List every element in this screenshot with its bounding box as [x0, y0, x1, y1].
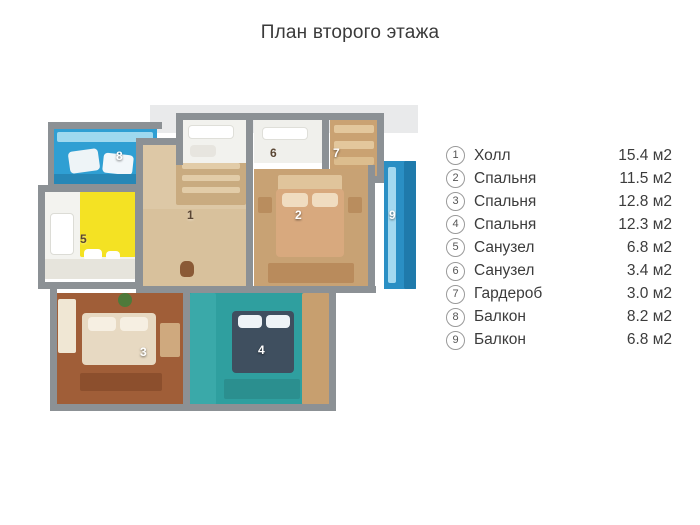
bath5-yellow-wall — [80, 191, 136, 257]
wall-between-6 — [246, 113, 253, 165]
bedroom3-desk — [160, 323, 180, 357]
legend-area-2: 11.5 м2 — [600, 170, 672, 188]
legend: 1 Холл 15.4 м2 2 Спальня 11.5 м2 3 Спаль… — [446, 144, 672, 352]
wall-bedroom3-right — [183, 287, 190, 411]
legend-number-5: 5 — [446, 238, 465, 257]
legend-number-6: 6 — [446, 262, 465, 281]
room-bedroom-2 — [254, 169, 370, 289]
wall-wardrobe-top — [322, 113, 384, 120]
wall-bedroom4-bottom — [190, 404, 336, 411]
legend-number-9: 9 — [446, 331, 465, 350]
wall-bath5-left — [38, 185, 45, 289]
hall-plant — [180, 261, 194, 277]
bath6-cabinet — [190, 145, 216, 157]
hall-stair-step-2 — [182, 163, 240, 169]
bath5-tub — [50, 213, 74, 255]
hall-stair-step-4 — [182, 187, 240, 193]
bedroom4-pillow-a — [238, 315, 262, 328]
legend-row-1: 1 Холл 15.4 м2 — [446, 144, 672, 167]
bedroom2-pillow-b — [312, 193, 338, 207]
balcony8-chair-a — [68, 148, 101, 174]
legend-row-2: 2 Спальня 11.5 м2 — [446, 167, 672, 190]
bedroom2-nightstand-r — [348, 197, 362, 213]
floor-plan: 8 5 1 6 7 — [30, 105, 420, 425]
legend-row-7: 7 Гардероб 3.0 м2 — [446, 283, 672, 306]
bedroom2-pillow-a — [282, 193, 308, 207]
legend-area-9: 6.8 м2 — [600, 331, 672, 349]
room-number-7: 7 — [333, 146, 340, 160]
wall-bedroom4-right — [329, 287, 336, 411]
bedroom2-rug — [268, 263, 354, 283]
legend-label-6: Санузел — [474, 262, 600, 280]
bedroom3-plant — [118, 293, 132, 307]
wall-bedroom3-bottom — [50, 404, 190, 411]
room-bedroom-3 — [56, 293, 184, 405]
legend-number-7: 7 — [446, 285, 465, 304]
balcony9-rail — [388, 167, 396, 283]
bedroom4-left-panel — [190, 293, 216, 405]
wardrobe-shelf-b — [334, 141, 374, 149]
legend-area-3: 12.8 м2 — [600, 193, 672, 211]
wall-bedroom3-left — [50, 287, 57, 411]
wall-wardrobe-right — [377, 113, 384, 183]
legend-label-2: Спальня — [474, 170, 600, 188]
bedroom4-pillow-b — [266, 315, 290, 328]
wall-hall-top — [136, 138, 182, 145]
room-number-4: 4 — [258, 343, 265, 357]
legend-row-3: 3 Спальня 12.8 м2 — [446, 190, 672, 213]
bedroom2-nightstand-l — [258, 197, 272, 213]
bedroom3-pillow-a — [88, 317, 116, 331]
wall-hall-left — [136, 138, 143, 293]
legend-area-4: 12.3 м2 — [600, 216, 672, 234]
legend-area-7: 3.0 м2 — [600, 285, 672, 303]
wall-bedroom2-right — [368, 165, 375, 293]
wall-balcony8-top — [48, 122, 162, 129]
legend-number-8: 8 — [446, 308, 465, 327]
legend-label-7: Гардероб — [474, 285, 600, 303]
wardrobe-shelf-a — [334, 125, 374, 133]
legend-row-4: 4 Спальня 12.3 м2 — [446, 213, 672, 236]
room-number-3: 3 — [140, 345, 147, 359]
legend-label-4: Спальня — [474, 216, 600, 234]
hall-floor-plank-a — [142, 209, 250, 289]
room-number-2: 2 — [295, 208, 302, 222]
room-bath-5 — [44, 191, 136, 279]
room-number-5: 5 — [80, 232, 87, 246]
legend-row-8: 8 Балкон 8.2 м2 — [446, 306, 672, 329]
wall-bath5-top — [38, 185, 138, 192]
legend-area-8: 8.2 м2 — [600, 308, 672, 326]
bedroom3-wardrobe — [58, 299, 76, 353]
room-number-8: 8 — [116, 149, 123, 163]
room-bath-6 — [182, 119, 250, 163]
legend-area-5: 6.8 м2 — [600, 239, 672, 257]
bath6-tub — [188, 125, 234, 139]
legend-number-3: 3 — [446, 192, 465, 211]
legend-area-6: 3.4 м2 — [600, 262, 672, 280]
legend-row-6: 6 Санузел 3.4 м2 — [446, 259, 672, 282]
room-number-6: 6 — [270, 146, 277, 160]
bedroom4-rug — [224, 379, 300, 399]
balcony9-shade — [404, 161, 416, 289]
wall-hall-right — [246, 165, 253, 293]
legend-label-3: Спальня — [474, 193, 600, 211]
legend-label-1: Холл — [474, 147, 600, 165]
room-hall-1 — [142, 143, 250, 289]
bath5-floor — [44, 259, 136, 279]
room-number-1: 1 — [187, 208, 194, 222]
wall-mid-horizontal — [136, 286, 376, 293]
wall-balcony8-left — [48, 122, 54, 190]
bath6b-tub — [262, 127, 308, 140]
legend-row-5: 5 Санузел 6.8 м2 — [446, 236, 672, 259]
legend-number-1: 1 — [446, 146, 465, 165]
bedroom4-right-wood — [302, 293, 330, 405]
bedroom3-rug — [80, 373, 162, 391]
legend-number-2: 2 — [446, 169, 465, 188]
legend-row-9: 9 Балкон 6.8 м2 — [446, 329, 672, 352]
legend-label-9: Балкон — [474, 331, 600, 349]
legend-area-1: 15.4 м2 — [600, 147, 672, 165]
room-bath-6-right — [254, 119, 322, 163]
hall-stair-step-3 — [182, 175, 240, 181]
room-balcony-9 — [384, 161, 416, 289]
legend-number-4: 4 — [446, 215, 465, 234]
bedroom3-pillow-b — [120, 317, 148, 331]
page-title: План второго этажа — [0, 22, 700, 44]
legend-label-5: Санузел — [474, 239, 600, 257]
room-number-9: 9 — [389, 208, 396, 222]
legend-label-8: Балкон — [474, 308, 600, 326]
wardrobe-shelf-c — [334, 157, 374, 165]
